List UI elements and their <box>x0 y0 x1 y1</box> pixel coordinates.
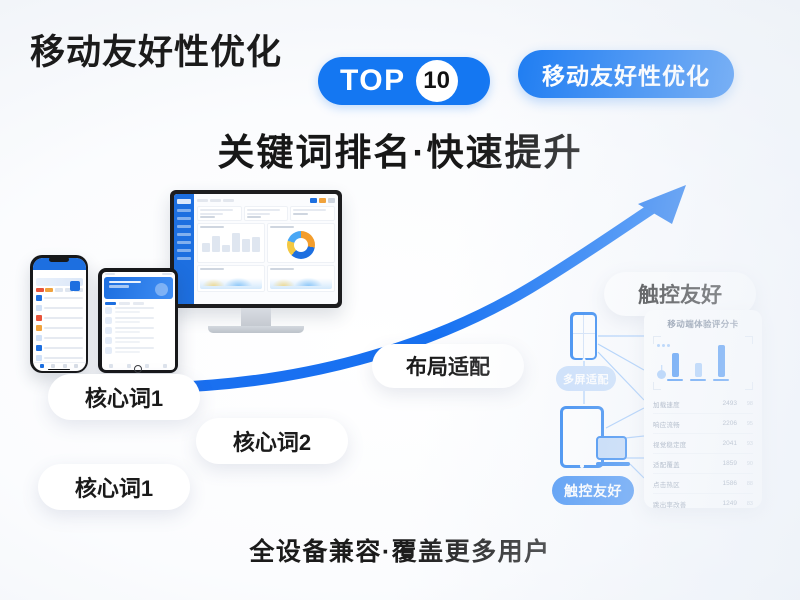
row-name: 加载速度 <box>653 399 719 409</box>
list-item <box>36 314 83 322</box>
tablet-statusbar <box>102 272 175 277</box>
row-value: 1249 <box>723 500 737 507</box>
list-item <box>36 344 83 352</box>
page-subtitle: 关键词排名·快速提升 <box>0 122 800 176</box>
row-value: 1859 <box>723 460 737 467</box>
phone-list <box>33 294 86 362</box>
row-value: 2206 <box>723 420 737 427</box>
chart-bar-group <box>713 345 729 381</box>
diagram-phone-icon <box>570 312 597 360</box>
keyword-pill-3: 核心词1 <box>38 464 190 510</box>
tablet-home-button <box>134 365 142 373</box>
list-item <box>105 327 172 334</box>
list-item <box>105 307 172 314</box>
list-item <box>36 354 83 362</box>
search-input[interactable] <box>36 272 83 276</box>
row-value: 2493 <box>723 400 737 407</box>
device-mockup-group <box>30 190 350 370</box>
touch-friendly-tag: 触控友好 <box>552 476 634 505</box>
top-rank-badge: TOP 10 <box>318 57 490 105</box>
top-badge-number: 10 <box>416 60 458 102</box>
chart-pin-icon <box>657 370 666 379</box>
top-badge-word: TOP <box>340 66 406 96</box>
score-card-rows: 加载速度 2493 98 响应流畅 2206 95 视觉稳定度 2041 93 … <box>653 394 753 513</box>
table-row: 点击热区 1586 88 <box>653 474 753 494</box>
layout-adaptation-pill: 布局适配 <box>372 344 524 388</box>
multiscreen-tag: 多屏适配 <box>556 366 616 391</box>
monitor-stand-neck <box>241 308 271 326</box>
page-subtitle-text: 关键词排名·快速提升 <box>217 122 582 176</box>
table-row: 视觉稳定度 2041 93 <box>653 434 753 454</box>
chart-bar-group <box>690 363 706 381</box>
row-name: 响应流畅 <box>653 419 719 429</box>
footer-tagline: 全设备兼容·覆盖更多用户 <box>0 532 800 568</box>
row-percent: 90 <box>741 461 753 467</box>
phone-mockup <box>30 255 88 373</box>
row-percent: 83 <box>741 501 753 507</box>
monitor-stand-foot <box>208 326 304 333</box>
row-value: 2041 <box>723 440 737 447</box>
dashboard-card <box>197 206 242 221</box>
table-row: 加载速度 2493 98 <box>653 394 753 414</box>
phone-screen <box>33 258 86 371</box>
dashboard-card <box>244 206 289 221</box>
dashboard-card <box>290 206 335 221</box>
list-item <box>105 317 172 324</box>
monitor-screen <box>170 190 342 308</box>
tablet-hero-banner <box>104 277 173 299</box>
header-tag-pill: 移动友好性优化 <box>518 50 734 98</box>
score-card-title: 移动端体验评分卡 <box>653 318 753 330</box>
row-name: 点击热区 <box>653 479 719 489</box>
dashboard-card-area <box>197 265 265 293</box>
tablet-list <box>102 307 175 363</box>
dashboard-card-area <box>267 265 335 293</box>
tablet-mockup <box>98 268 178 373</box>
phone-home-indicator <box>33 368 86 370</box>
list-item <box>105 337 172 344</box>
row-percent: 98 <box>741 401 753 407</box>
diagram-laptop-icon <box>596 436 630 468</box>
keyword-pill-2: 核心词2 <box>196 418 348 464</box>
page-title: 移动友好性优化 <box>30 24 282 75</box>
score-card: 移动端体验评分卡 加载速度 2493 98 响应流畅 <box>644 310 762 508</box>
monitor-dashboard <box>174 194 338 304</box>
multi-device-diagram: 多屏适配 触控友好 移动端体验评分卡 加载速 <box>552 308 762 513</box>
keyword-pill-1: 核心词1 <box>48 374 200 420</box>
dashboard-card-bars <box>197 223 265 263</box>
dashboard-row-1 <box>197 206 335 221</box>
score-card-chart <box>653 336 753 390</box>
dashboard-card-donut <box>267 223 335 263</box>
phone-banner <box>36 278 83 287</box>
desktop-monitor-mockup <box>170 190 342 333</box>
row-name: 适配覆盖 <box>653 459 719 469</box>
dashboard-main <box>194 194 338 304</box>
list-item <box>36 304 83 312</box>
tablet-screen <box>102 272 175 370</box>
table-row: 响应流畅 2206 95 <box>653 414 753 434</box>
table-row: 跳出率改善 1249 83 <box>653 494 753 513</box>
dashboard-topbar <box>197 197 335 204</box>
list-item <box>36 294 83 302</box>
phone-notch <box>49 257 69 262</box>
row-name: 视觉稳定度 <box>653 439 719 449</box>
row-percent: 88 <box>741 481 753 487</box>
row-percent: 95 <box>741 421 753 427</box>
row-value: 1586 <box>723 480 737 487</box>
row-name: 跳出率改善 <box>653 499 719 509</box>
tablet-tabs <box>102 299 175 307</box>
dashboard-row-2 <box>197 223 335 263</box>
list-item <box>105 347 172 354</box>
row-percent: 93 <box>741 441 753 447</box>
chart-bar-group <box>667 353 683 381</box>
list-item <box>36 324 83 332</box>
area-chart-icon <box>200 271 262 289</box>
poster-canvas: 移动友好性优化 TOP 10 移动友好性优化 关键词排名·快速提升 <box>0 0 800 600</box>
dashboard-row-3 <box>197 265 335 293</box>
area-chart-icon <box>270 271 332 289</box>
chart-bars <box>667 339 741 381</box>
list-item <box>36 334 83 342</box>
table-row: 适配覆盖 1859 90 <box>653 454 753 474</box>
donut-chart-icon <box>287 231 315 259</box>
